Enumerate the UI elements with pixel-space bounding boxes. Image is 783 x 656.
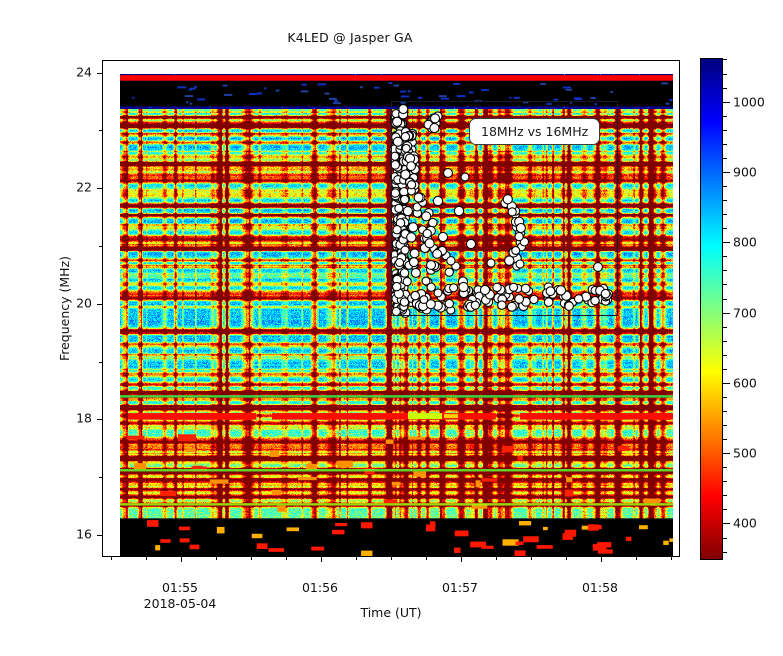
colorbar-minor-tick: [723, 158, 727, 159]
x-axis-tick: [181, 556, 182, 562]
colorbar-minor-tick: [723, 214, 727, 215]
x-axis-minor-tick: [286, 556, 287, 560]
y-axis-tick: [97, 188, 103, 189]
x-axis-minor-tick: [671, 556, 672, 560]
colorbar-minor-tick: [723, 397, 727, 398]
x-axis-minor-tick: [566, 556, 567, 560]
y-axis-tick: [97, 535, 103, 536]
y-axis-minor-tick: [99, 362, 103, 363]
x-axis-minor-tick: [531, 556, 532, 560]
colorbar-minor-tick: [723, 439, 727, 440]
colorbar-minor-tick: [723, 369, 727, 370]
y-axis-minor-tick: [99, 130, 103, 131]
colorbar-minor-tick: [723, 144, 727, 145]
y-axis-tick: [97, 304, 103, 305]
x-axis-tick-label: 01:56: [302, 580, 338, 595]
colorbar-tick: [723, 172, 730, 173]
x-axis-minor-tick: [251, 556, 252, 560]
colorbar-minor-tick: [723, 509, 727, 510]
colorbar-minor-tick: [723, 481, 727, 482]
y-axis-tick-label: 20: [76, 295, 92, 310]
colorbar-tick-label: 1000: [733, 94, 765, 109]
x-axis-tick: [461, 556, 462, 562]
annotation-label: 18MHz vs 16MHz: [469, 118, 600, 145]
x-axis-tick-label: 01:58: [582, 580, 618, 595]
colorbar-tick: [723, 453, 730, 454]
y-axis-tick-label: 16: [76, 526, 92, 541]
colorbar-tick-label: 400: [733, 516, 757, 531]
plot-area: 18MHz vs 16MHz: [102, 60, 680, 557]
colorbar-minor-tick: [723, 270, 727, 271]
y-axis-tick: [97, 73, 103, 74]
colorbar-minor-tick: [723, 74, 727, 75]
y-axis-tick: [97, 419, 103, 420]
colorbar-minor-tick: [723, 411, 727, 412]
colorbar-minor-tick: [723, 299, 727, 300]
x-axis-tick: [321, 556, 322, 562]
x-axis-tick-label: 01:55: [162, 580, 198, 595]
chart-title: K4LED @ Jasper GA: [0, 30, 700, 45]
x-axis-tick-label: 01:57: [442, 580, 478, 595]
colorbar-minor-tick: [723, 327, 727, 328]
plot-clip: 18MHz vs 16MHz: [103, 61, 679, 556]
colorbar-minor-tick: [723, 538, 727, 539]
colorbar-minor-tick: [723, 186, 727, 187]
colorbar-tick-label: 700: [733, 305, 757, 320]
colorbar-tick-label: 600: [733, 375, 757, 390]
y-axis-tick-label: 24: [76, 64, 92, 79]
x-axis-minor-tick: [636, 556, 637, 560]
colorbar-minor-tick: [723, 467, 727, 468]
colorbar-minor-tick: [723, 116, 727, 117]
colorbar-minor-tick: [723, 495, 727, 496]
colorbar-minor-tick: [723, 228, 727, 229]
colorbar-minor-tick: [723, 88, 727, 89]
x-axis-minor-tick: [496, 556, 497, 560]
x-axis-minor-tick: [426, 556, 427, 560]
colorbar-minor-tick: [723, 200, 727, 201]
colorbar-minor-tick: [723, 552, 727, 553]
x-axis-minor-tick: [111, 556, 112, 560]
colorbar-minor-tick: [723, 425, 727, 426]
colorbar-minor-tick: [723, 355, 727, 356]
x-axis-minor-tick: [146, 556, 147, 560]
colorbar-minor-tick: [723, 59, 727, 60]
colorbar-minor-tick: [723, 130, 727, 131]
colorbar-gradient: [700, 58, 723, 560]
x-axis-title: Time (UT): [102, 605, 680, 620]
x-axis-minor-tick: [216, 556, 217, 560]
colorbar-minor-tick: [723, 284, 727, 285]
x-axis-minor-tick: [356, 556, 357, 560]
y-axis-minor-tick: [99, 246, 103, 247]
x-axis-minor-tick: [391, 556, 392, 560]
colorbar-tick: [723, 242, 730, 243]
colorbar-tick: [723, 102, 730, 103]
colorbar-minor-tick: [723, 341, 727, 342]
colorbar-tick-label: 800: [733, 235, 757, 250]
colorbar-tick-label: 900: [733, 164, 757, 179]
y-axis-tick-label: 18: [76, 411, 92, 426]
colorbar-minor-tick: [723, 256, 727, 257]
colorbar-tick-label: 500: [733, 446, 757, 461]
colorbar-tick: [723, 523, 730, 524]
y-axis-minor-tick: [99, 477, 103, 478]
x-axis-tick: [601, 556, 602, 562]
colorbar: 1000900800700600500400: [700, 58, 723, 560]
colorbar-tick: [723, 313, 730, 314]
y-axis-tick-label: 22: [76, 180, 92, 195]
colorbar-tick: [723, 383, 730, 384]
